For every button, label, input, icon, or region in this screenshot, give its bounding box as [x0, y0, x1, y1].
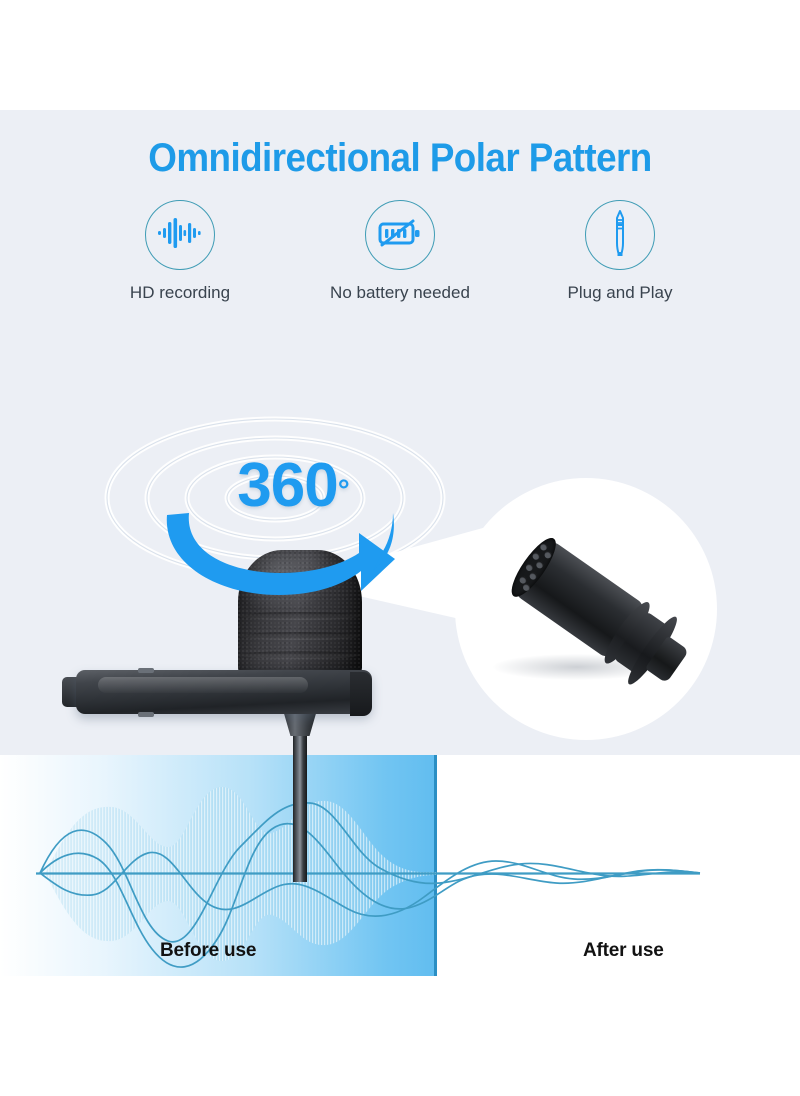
- page-title: Omnidirectional Polar Pattern: [32, 136, 768, 181]
- feature-icon-ring: [145, 200, 215, 270]
- waveform-graphic: [0, 755, 800, 976]
- feature-label: No battery needed: [330, 283, 470, 303]
- clip-bar: [76, 670, 372, 714]
- microphone-cable: [293, 734, 307, 882]
- clip-gloss-highlight: [98, 677, 308, 693]
- feature-label: Plug and Play: [568, 283, 673, 303]
- feature-icon-ring: [365, 200, 435, 270]
- after-use-label: After use: [583, 940, 664, 962]
- rotation-arrow-icon: [155, 455, 405, 605]
- product-feature-image: Omnidirectional Polar Pattern: [0, 0, 800, 1096]
- feature-item-hd-recording: HD recording: [70, 200, 290, 303]
- feature-label: HD recording: [130, 283, 230, 303]
- microphone-lapel-clip: [62, 668, 372, 718]
- audio-jack-icon: [607, 209, 633, 262]
- feature-item-no-battery: No battery needed: [290, 200, 510, 303]
- waveform-icon: [157, 216, 203, 255]
- content-panel: Omnidirectional Polar Pattern: [0, 110, 800, 976]
- inset-capsule-closeup: [455, 478, 717, 740]
- clip-end: [350, 672, 372, 716]
- feature-item-plug-and-play: Plug and Play: [510, 200, 730, 303]
- hero-microphone-illustration: 360°: [0, 325, 800, 745]
- comparison-panel: Before use After use: [0, 755, 800, 976]
- microphone-capsule: [474, 490, 717, 731]
- battery-slash-icon: [377, 216, 423, 255]
- feature-icon-ring: [585, 200, 655, 270]
- before-use-label: Before use: [160, 940, 256, 962]
- feature-list: HD recording: [0, 200, 800, 303]
